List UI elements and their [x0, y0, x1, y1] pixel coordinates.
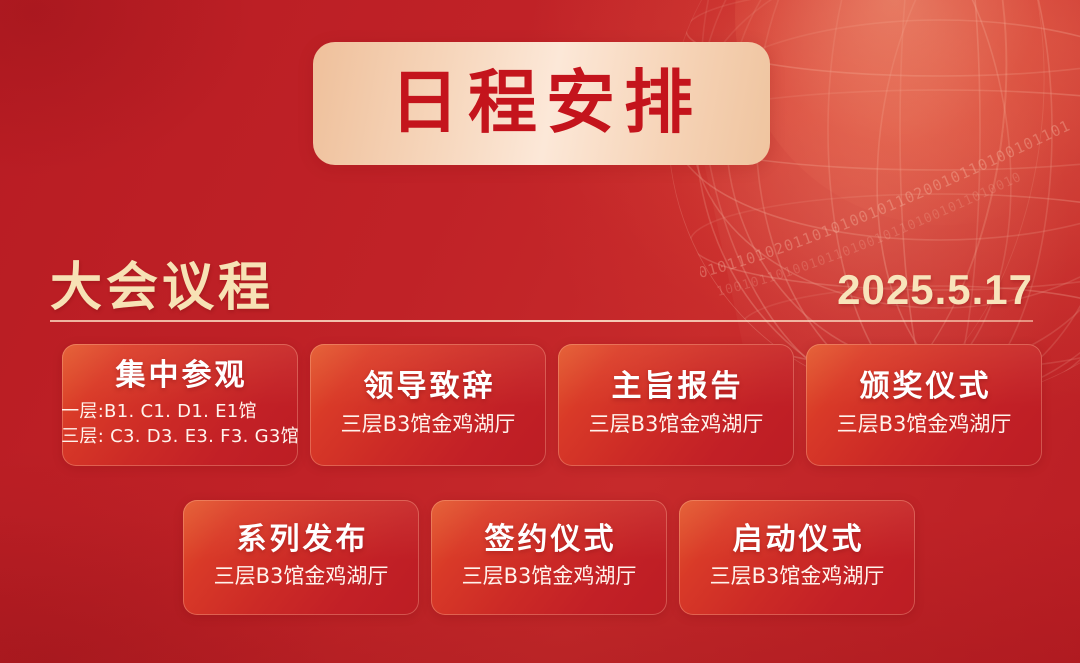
agenda-card-release[interactable]: 系列发布 三层B3馆金鸡湖厅 — [183, 500, 419, 615]
corner-shade-top-left — [0, 0, 260, 180]
agenda-card-subtitle-line1: 一层:B1. C1. D1. E1馆 — [62, 400, 298, 425]
agenda-card-launch[interactable]: 启动仪式 三层B3馆金鸡湖厅 — [679, 500, 915, 615]
agenda-card-subtitle: 三层B3馆金鸡湖厅 — [837, 411, 1012, 439]
agenda-card-visit[interactable]: 集中参观 一层:B1. C1. D1. E1馆 三层: C3. D3. E3. … — [62, 344, 298, 466]
agenda-card-award[interactable]: 颁奖仪式 三层B3馆金鸡湖厅 — [806, 344, 1042, 466]
agenda-card-title: 集中参观 — [113, 360, 248, 392]
agenda-date: 2025.5.17 — [837, 269, 1033, 314]
agenda-card-subtitle-line2: 三层: C3. D3. E3. F3. G3馆 — [62, 425, 298, 450]
agenda-card-subtitle: 一层:B1. C1. D1. E1馆 三层: C3. D3. E3. F3. G… — [62, 400, 298, 450]
agenda-card-subtitle: 三层B3馆金鸡湖厅 — [341, 411, 516, 439]
agenda-card-title: 签约仪式 — [482, 524, 617, 556]
title-badge: 日程安排 — [313, 42, 770, 165]
agenda-card-title: 颁奖仪式 — [857, 371, 992, 403]
heading-divider — [50, 320, 1033, 322]
agenda-card-title: 主旨报告 — [609, 371, 744, 403]
agenda-card-subtitle: 三层B3馆金鸡湖厅 — [710, 563, 885, 591]
agenda-card-signing[interactable]: 签约仪式 三层B3馆金鸡湖厅 — [431, 500, 667, 615]
agenda-card-subtitle: 三层B3馆金鸡湖厅 — [589, 411, 764, 439]
section-title: 大会议程 — [50, 262, 274, 314]
agenda-card-keynote[interactable]: 主旨报告 三层B3馆金鸡湖厅 — [558, 344, 794, 466]
agenda-card-subtitle: 三层B3馆金鸡湖厅 — [462, 563, 637, 591]
agenda-card-title: 领导致辞 — [361, 371, 496, 403]
title-badge-text: 日程安排 — [381, 69, 702, 138]
agenda-card-title: 启动仪式 — [730, 524, 865, 556]
agenda-card-speech[interactable]: 领导致辞 三层B3馆金鸡湖厅 — [310, 344, 546, 466]
globe-glow — [735, 0, 1080, 225]
agenda-card-title: 系列发布 — [234, 524, 369, 556]
agenda-card-subtitle: 三层B3馆金鸡湖厅 — [214, 563, 389, 591]
section-heading-row: 大会议程 2025.5.17 — [50, 248, 1033, 314]
agenda-poster: 0101101020110101001011020010110100101101… — [0, 0, 1080, 663]
